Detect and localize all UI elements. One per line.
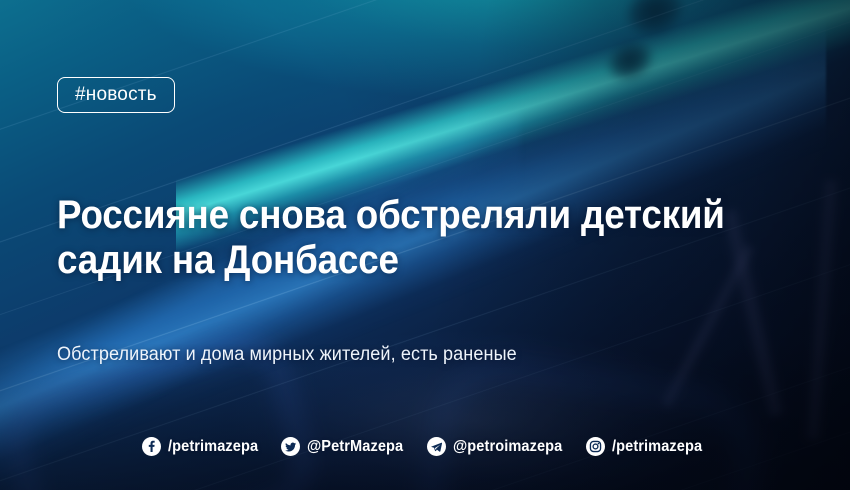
social-link-twitter[interactable]: @PetrMazepa [281,437,409,456]
social-handle-instagram: /petrimazepa [612,438,702,456]
facebook-icon [142,437,161,456]
card-content: #новость Россияне снова обстреляли детск… [0,0,850,490]
category-tag[interactable]: #новость [57,77,175,113]
category-tag-label: #новость [75,84,157,106]
social-link-telegram[interactable]: @petroimazepa [427,437,569,456]
social-handle-telegram: @petroimazepa [453,438,562,456]
social-link-instagram[interactable]: /petrimazepa [586,437,708,456]
news-card: #новость Россияне снова обстреляли детск… [0,0,850,490]
social-handle-facebook: /petrimazepa [168,438,258,456]
telegram-icon [427,437,446,456]
subtitle: Обстреливают и дома мирных жителей, есть… [57,344,517,366]
headline: Россияне снова обстреляли детский садик … [57,193,729,283]
instagram-icon [586,437,605,456]
social-handle-twitter: @PetrMazepa [307,438,403,456]
social-link-facebook[interactable]: /petrimazepa [142,437,264,456]
twitter-icon [281,437,300,456]
social-links: /petrimazepa @PetrMazepa @petroimazepa [0,437,850,456]
